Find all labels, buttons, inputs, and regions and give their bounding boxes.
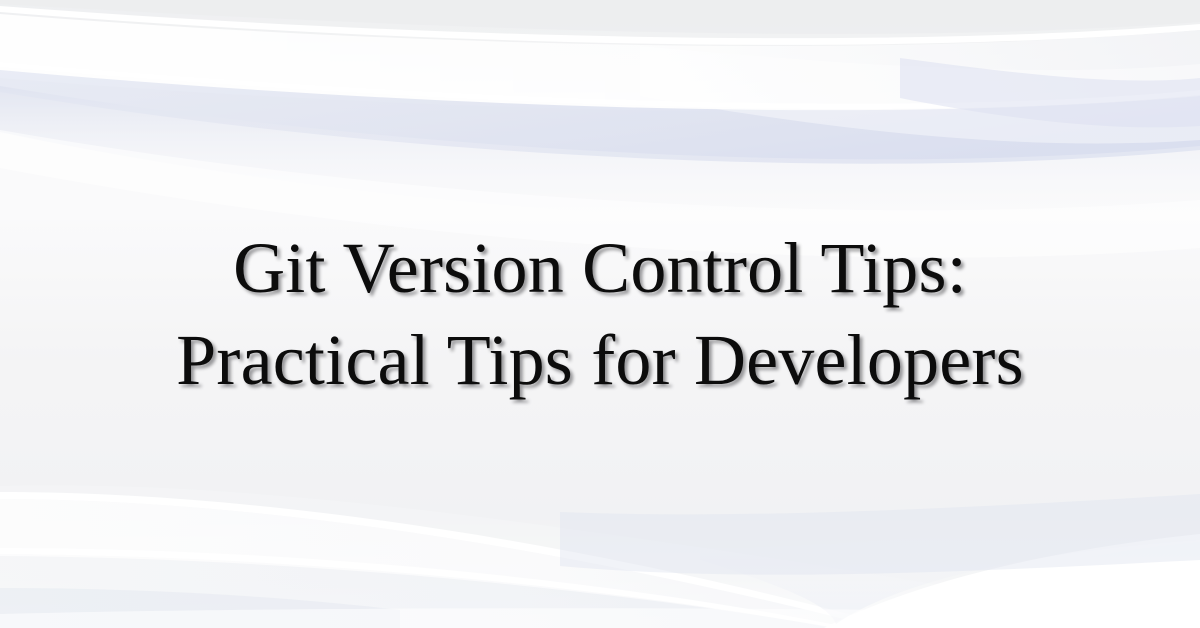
banner-card: Git Version Control Tips: Practical Tips… — [0, 0, 1200, 628]
page-title: Git Version Control Tips: Practical Tips… — [100, 222, 1100, 406]
title-container: Git Version Control Tips: Practical Tips… — [0, 0, 1200, 628]
